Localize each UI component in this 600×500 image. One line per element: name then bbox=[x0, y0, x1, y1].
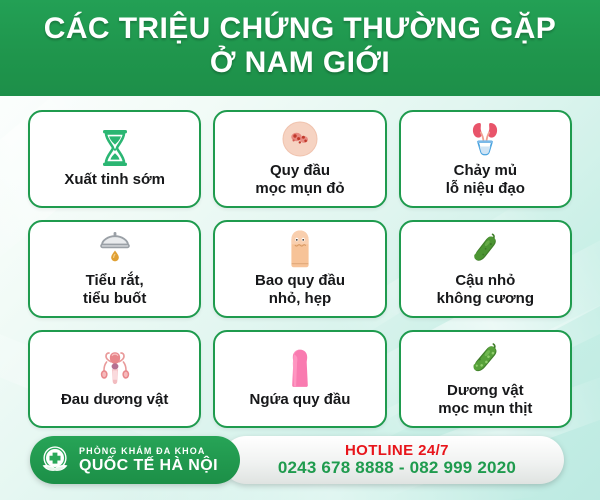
symptom-card[interactable]: Quy đầu mọc mụn đỏ bbox=[213, 110, 386, 208]
symptom-card[interactable]: Chảy mủ lỗ niệu đạo bbox=[399, 110, 572, 208]
symptom-card[interactable]: Tiểu rắt, tiểu buốt bbox=[28, 220, 201, 318]
symptom-card[interactable]: Cậu nhỏ không cương bbox=[399, 220, 572, 318]
symptom-card-label: Tiểu rắt, tiểu buốt bbox=[83, 272, 146, 306]
red-pimple-skin-icon bbox=[219, 119, 380, 159]
drooping-cucumber-icon bbox=[405, 229, 566, 269]
symptom-card-label: Cậu nhỏ không cương bbox=[437, 272, 534, 306]
medical-cross-leaf-logo-icon bbox=[38, 443, 72, 477]
footer-contact-bar: PHÒNG KHÁM ĐA KHOA QUỐC TẾ HÀ NỘI HOTLIN… bbox=[30, 436, 564, 484]
foreskin-icon bbox=[219, 229, 380, 269]
symptom-card-label: Quy đầu mọc mụn đỏ bbox=[255, 162, 344, 196]
symptom-card-label: Dương vật mọc mụn thịt bbox=[438, 382, 532, 416]
kidney-bladder-icon bbox=[405, 119, 566, 159]
symptom-card[interactable]: Bao quy đầu nhỏ, hẹp bbox=[213, 220, 386, 318]
clinic-name-line-2: QUỐC TẾ HÀ NỘI bbox=[79, 458, 218, 474]
symptom-card[interactable]: Xuất tinh sớm bbox=[28, 110, 201, 208]
dripping-faucet-icon bbox=[34, 229, 195, 269]
clinic-name-line-1: PHÒNG KHÁM ĐA KHOA bbox=[79, 447, 218, 456]
pink-glans-icon bbox=[219, 348, 380, 388]
clinic-brand[interactable]: PHÒNG KHÁM ĐA KHOA QUỐC TẾ HÀ NỘI bbox=[30, 436, 240, 484]
page-title-line-2: Ở NAM GIỚI bbox=[210, 46, 390, 80]
symptom-card-label: Bao quy đầu nhỏ, hẹp bbox=[255, 272, 345, 306]
hotline-block[interactable]: HOTLINE 24/7 0243 678 8888 - 082 999 202… bbox=[222, 436, 564, 484]
hotline-label: HOTLINE 24/7 bbox=[345, 443, 449, 459]
symptom-card-label: Đau dương vật bbox=[61, 391, 168, 408]
page-title-line-1: CÁC TRIỆU CHỨNG THƯỜNG GẶP bbox=[44, 12, 556, 46]
hotline-number[interactable]: 0243 678 8888 - 082 999 2020 bbox=[278, 459, 516, 478]
symptom-card-label: Chảy mủ lỗ niệu đạo bbox=[446, 162, 525, 196]
symptom-card-label: Ngứa quy đầu bbox=[250, 391, 351, 408]
hourglass-icon bbox=[34, 128, 195, 168]
header-banner: CÁC TRIỆU CHỨNG THƯỜNG GẶP Ở NAM GIỚI bbox=[0, 0, 600, 96]
infographic-root: CÁC TRIỆU CHỨNG THƯỜNG GẶP Ở NAM GIỚI Xu… bbox=[0, 0, 600, 500]
symptom-card[interactable]: Dương vật mọc mụn thịt bbox=[399, 330, 572, 428]
symptom-card[interactable]: Ngứa quy đầu bbox=[213, 330, 386, 428]
bumpy-cucumber-icon bbox=[405, 339, 566, 379]
male-reproductive-anatomy-icon bbox=[34, 348, 195, 388]
symptom-card[interactable]: Đau dương vật bbox=[28, 330, 201, 428]
symptom-card-label: Xuất tinh sớm bbox=[64, 171, 165, 188]
clinic-brand-text: PHÒNG KHÁM ĐA KHOA QUỐC TẾ HÀ NỘI bbox=[79, 447, 218, 474]
symptom-card-grid: Xuất tinh sớm Quy đầu mọc mụn đỏ bbox=[0, 96, 600, 428]
footer: PHÒNG KHÁM ĐA KHOA QUỐC TẾ HÀ NỘI HOTLIN… bbox=[0, 428, 600, 500]
